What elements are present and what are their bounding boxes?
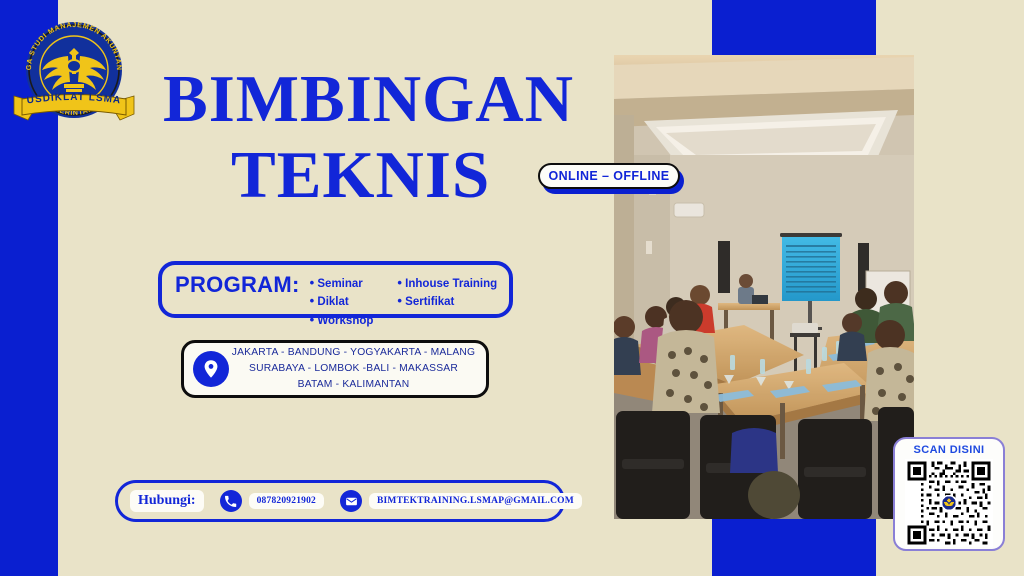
program-item-label: Sertifikat [405, 296, 454, 308]
locations-line-2: SURABAYA - LOMBOK -BALI - MAKASSAR [229, 361, 478, 377]
contact-label: Hubungi: [130, 490, 204, 512]
program-item: • Diklat [310, 292, 374, 310]
contact-phone-number: 087820921902 [249, 493, 324, 509]
program-item: • Workshop [310, 311, 374, 329]
mode-badge-label: ONLINE – OFFLINE [549, 169, 670, 183]
contact-phone[interactable]: 087820921902 [220, 490, 324, 512]
qr-card[interactable]: SCAN DISINI [893, 437, 1005, 551]
qr-code-icon [905, 459, 993, 547]
program-item-label: Inhouse Training [405, 278, 497, 290]
program-column-1: • Seminar • Diklat • Workshop [310, 274, 374, 329]
locations-line-1: JAKARTA - BANDUNG - YOGYAKARTA - MALANG [229, 345, 478, 361]
program-columns: • Seminar • Diklat • Workshop • Inhouse … [310, 274, 498, 329]
program-item-label: Workshop [317, 315, 373, 327]
contact-bar: Hubungi: 087820921902 BIMTEKTRAINING.LSM… [115, 480, 565, 522]
poster-title-line2: TEKNIS [231, 142, 490, 209]
program-item-label: Diklat [317, 296, 348, 308]
envelope-icon [340, 490, 362, 512]
poster-title-line1: BIMBINGAN [163, 66, 574, 133]
qr-title: SCAN DISINI [913, 444, 984, 456]
map-pin-icon [193, 351, 229, 387]
contact-email[interactable]: BIMTEKTRAINING.LSMAP@GMAIL.COM [340, 490, 582, 512]
program-item: • Seminar [310, 274, 374, 292]
program-item-label: Seminar [317, 278, 362, 290]
contact-email-address: BIMTEKTRAINING.LSMAP@GMAIL.COM [369, 493, 582, 509]
program-label: PROGRAM: [175, 272, 300, 298]
locations-box: JAKARTA - BANDUNG - YOGYAKARTA - MALANG … [181, 340, 489, 398]
training-room-photo [614, 55, 914, 519]
program-item: • Inhouse Training [397, 274, 497, 292]
lsmap-logo: LEMBAGA STUDI MANAJEMEN AKUNTANSI DAN PE… [6, 4, 142, 132]
phone-icon [220, 490, 242, 512]
mode-badge: ONLINE – OFFLINE [538, 163, 680, 189]
poster-canvas: LEMBAGA STUDI MANAJEMEN AKUNTANSI DAN PE… [0, 0, 1024, 576]
program-box: PROGRAM: • Seminar • Diklat • Workshop •… [158, 261, 513, 318]
locations-text: JAKARTA - BANDUNG - YOGYAKARTA - MALANG … [229, 345, 486, 393]
program-column-2: • Inhouse Training • Sertifikat [397, 274, 497, 329]
program-item: • Sertifikat [397, 292, 497, 310]
locations-line-3: BATAM - KALIMANTAN [229, 377, 478, 393]
